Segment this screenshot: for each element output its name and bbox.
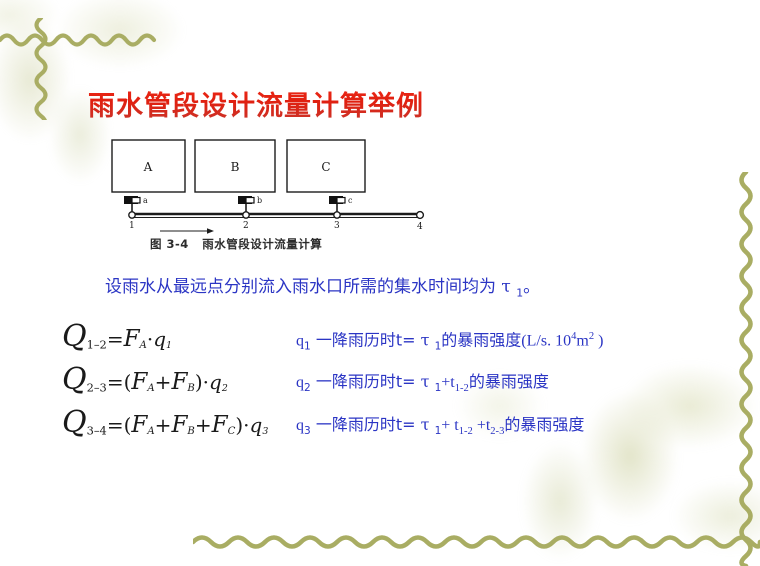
definition-q2-tau: τ (421, 372, 430, 391)
equation-q3-4-equals: = (107, 413, 124, 437)
node-4-label: 4 (417, 222, 423, 232)
equation-q3-4-term-fa-sub: A (147, 426, 154, 437)
definition-q2-symbol: q (296, 374, 304, 391)
catchment-area-c-label: C (321, 160, 330, 174)
definition-q3-symbol: q (296, 417, 304, 434)
figure-caption-text: 雨水管段设计流量计算 (202, 237, 322, 251)
definition-q3-plus-term-2: +t (473, 417, 490, 434)
definition-q2-plus-term: +t (441, 374, 454, 391)
equation-q1-2: Q1–2=FA·q1 (62, 322, 292, 352)
equation-q1-2-multiplier-sub: 1 (166, 340, 172, 351)
narrative-sentence: 设雨水从最远点分别流入雨水口所需的集水时间均为 τ 1。 (105, 272, 540, 299)
definition-q1-unit-end: ) (594, 332, 603, 349)
slide-canvas: 雨水管段设计流量计算举例 A B C a 1 b 2 (0, 0, 760, 566)
definition-q1-unit-close: m (576, 332, 588, 349)
equation-q2-3-multiplier-sub: 2 (222, 383, 228, 394)
narrative-text-after: 。 (523, 277, 540, 297)
equation-q1-2-multiplier: q1 (153, 327, 172, 351)
equation-q2-3-term-fb-sub: B (187, 383, 194, 394)
equation-q2-3-paren-close: ) (195, 370, 203, 394)
definition-q1-unit-open: (L/s. 10 (521, 332, 571, 349)
definition-q3-lead: 降雨历时t= (332, 415, 421, 434)
equation-q2-3-lhs: Q2–3 (62, 362, 107, 397)
equation-q2-3-term-fb: FB (171, 369, 194, 395)
definition-q3-plus-term-2-sub: 2-3 (490, 426, 504, 437)
equation-q3-4-lhs-sub: 3–4 (87, 424, 107, 438)
definition-q3: q3 一降雨历时t= τ 1+ t1-2 +t2-3的暴雨强度 (296, 417, 746, 438)
equation-q3-4-term-fc: FC (212, 412, 236, 438)
node-1-label: 1 (129, 221, 135, 231)
inlet-c-label: c (348, 196, 353, 205)
narrative-text-before: 设雨水从最远点分别流入雨水口所需的集水时间均为 (105, 277, 501, 297)
definition-q1-symbol: q (296, 332, 304, 349)
definition-q3-dash: 一 (316, 415, 332, 434)
flow-direction-arrow-icon (160, 228, 214, 234)
definition-list: q1 一降雨历时t= τ 1的暴雨强度(L/s. 104m2 ) q2 一降雨历… (296, 332, 746, 438)
definition-q3-tail: 的暴雨强度 (504, 415, 584, 434)
inlet-a-label: a (143, 196, 148, 205)
equation-q3-4-term-fa: FA (131, 412, 154, 438)
definition-q1-subscript: 1 (304, 341, 311, 353)
definition-q2-tail: 的暴雨强度 (469, 372, 549, 391)
equation-q1-2-term-fa: FA (124, 326, 147, 352)
equation-q1-2-equals: = (107, 327, 124, 351)
equation-q2-3-term-fa-sub: A (147, 383, 154, 394)
figure-caption: 图 3-4 雨水管段设计流量计算 (150, 236, 322, 252)
equation-q3-4-multiplier-sub: 3 (262, 426, 268, 437)
definition-q2-subscript: 2 (304, 382, 311, 394)
equation-q2-3: Q2–3=(FA+FB)·q2 (62, 365, 292, 395)
figure-caption-number: 图 3-4 (150, 237, 189, 251)
equation-q3-4-term-fb-sub: B (187, 426, 194, 437)
node-3-label: 3 (334, 221, 340, 231)
equation-q3-4-dot: · (243, 413, 249, 437)
equation-q3-4: Q3–4=(FA+FB+FC)·q3 (62, 408, 292, 438)
definition-q2-plus-term-sub: 1-2 (455, 383, 469, 394)
catchment-area-a-label: A (143, 160, 153, 174)
narrative-tau-symbol: τ (501, 277, 510, 297)
equation-q3-4-term-fb: FB (171, 412, 194, 438)
equation-q2-3-plus-1: + (155, 370, 172, 394)
node-2-label: 2 (243, 221, 249, 231)
definition-q3-subscript: 3 (304, 425, 311, 437)
equation-q3-4-paren-close: ) (235, 413, 243, 437)
equation-q2-3-multiplier: q2 (209, 370, 228, 394)
equation-q3-4-plus-1: + (155, 413, 172, 437)
equation-q2-3-equals: = (107, 370, 124, 394)
equation-q2-3-term-fa: FA (131, 369, 154, 395)
rainwater-pipe-diagram: A B C a 1 b 2 c (110, 138, 440, 248)
definition-q1-tau: τ (421, 330, 430, 349)
inlet-b-label: b (257, 196, 262, 205)
definition-q1-lead: 降雨历时t= (332, 330, 421, 349)
equation-q1-2-term-fa-sub: A (140, 340, 147, 351)
page-title: 雨水管段设计流量计算举例 (88, 84, 424, 123)
equation-q3-4-lhs: Q3–4 (62, 405, 107, 440)
vine-border-bottom-icon (193, 530, 760, 554)
definition-q2: q2 一降雨历时t= τ 1+t1-2的暴雨强度 (296, 374, 746, 395)
catchment-area-b-label: B (231, 160, 240, 174)
definition-q3-tau: τ (421, 415, 430, 434)
equation-q1-2-lhs-sub: 1–2 (87, 338, 107, 352)
equation-list: Q1–2=FA·q1 Q2–3=(FA+FB)·q2 Q3–4=(FA+FB+F… (62, 322, 292, 451)
equation-q1-2-lhs: Q1–2 (62, 319, 107, 354)
definition-q1: q1 一降雨历时t= τ 1的暴雨强度(L/s. 104m2 ) (296, 332, 746, 352)
vine-border-left-icon (28, 18, 54, 120)
node-4-symbol: 4 (417, 212, 424, 232)
definition-q2-dash: 一 (316, 372, 332, 391)
definition-q2-lead: 降雨历时t= (332, 372, 421, 391)
definition-q1-tail: 的暴雨强度 (441, 330, 521, 349)
definition-q3-plus-term-1: + t (441, 417, 458, 434)
equation-q3-4-multiplier: q3 (250, 413, 269, 437)
equation-q3-4-plus-2: + (195, 413, 212, 437)
definition-q1-dash: 一 (316, 330, 332, 349)
equation-q2-3-lhs-sub: 2–3 (87, 381, 107, 395)
vine-border-top-icon (0, 26, 160, 52)
definition-q3-plus-term-1-sub: 1-2 (459, 426, 473, 437)
